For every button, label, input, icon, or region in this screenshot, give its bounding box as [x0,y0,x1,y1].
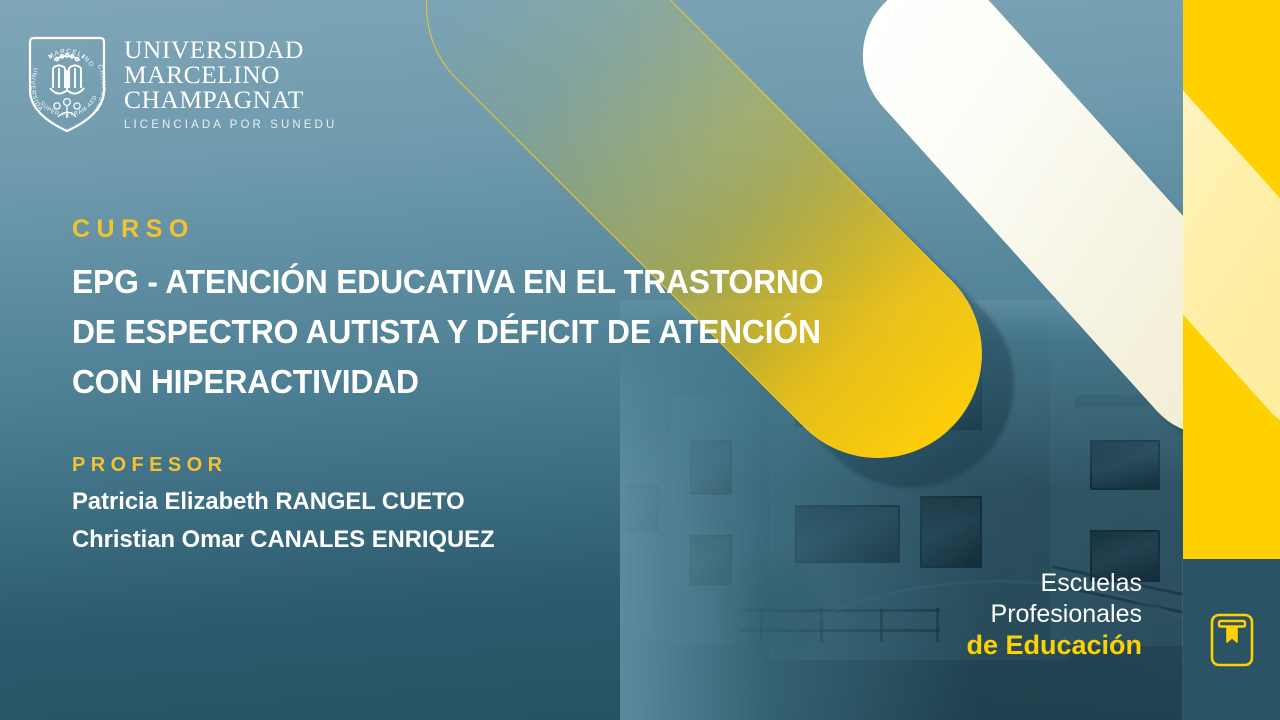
professor-names: Patricia Elizabeth RANGEL CUETO Christia… [72,483,945,559]
school-line-1: Escuelas [0,568,1142,599]
presentation-slide: MARCELINO UNIVERSIDAD CHAMPAGNAT SUPER P… [0,0,1280,720]
professor-name-2: Christian Omar CANALES ENRIQUEZ [72,521,945,559]
university-name-line-2: MARCELINO [124,62,337,87]
course-title-line-1: EPG - ATENCIÓN EDUCATIVA EN EL TRASTORNO [72,257,941,307]
university-logo: MARCELINO UNIVERSIDAD CHAMPAGNAT SUPER P… [24,32,337,136]
university-name-line-1: UNIVERSIDAD [124,37,337,62]
course-title-line-3: CON HIPERACTIVIDAD [72,357,941,407]
professor-label: PROFESOR [72,454,972,477]
professor-name-1: Patricia Elizabeth RANGEL CUETO [72,483,945,521]
school-line-2: Profesionales [0,599,1142,630]
university-shield-icon: MARCELINO UNIVERSIDAD CHAMPAGNAT SUPER P… [24,32,110,136]
university-name-block: UNIVERSIDAD MARCELINO CHAMPAGNAT LICENCI… [124,37,337,131]
school-line-3: de Educación [0,630,1142,661]
course-eyebrow-label: CURSO [72,215,972,244]
university-name-line-3: CHAMPAGNAT [124,87,337,112]
svg-text:UNIVERSIDAD: UNIVERSIDAD [24,32,44,113]
cream-diagonal-band-decoration [1183,0,1280,559]
school-branding-block: Escuelas Profesionales de Educación [0,568,1160,661]
book-bookmark-icon [1209,612,1255,668]
book-icon-panel [1183,559,1280,720]
accreditation-text: LICENCIADA POR SUNEDU [124,119,337,131]
slide-content: CURSO EPG - ATENCIÓN EDUCATIVA EN EL TRA… [72,215,972,559]
course-title-line-2: DE ESPECTRO AUTISTA Y DÉFICIT DE ATENCIÓ… [72,307,941,357]
course-title: EPG - ATENCIÓN EDUCATIVA EN EL TRASTORNO… [72,257,941,407]
